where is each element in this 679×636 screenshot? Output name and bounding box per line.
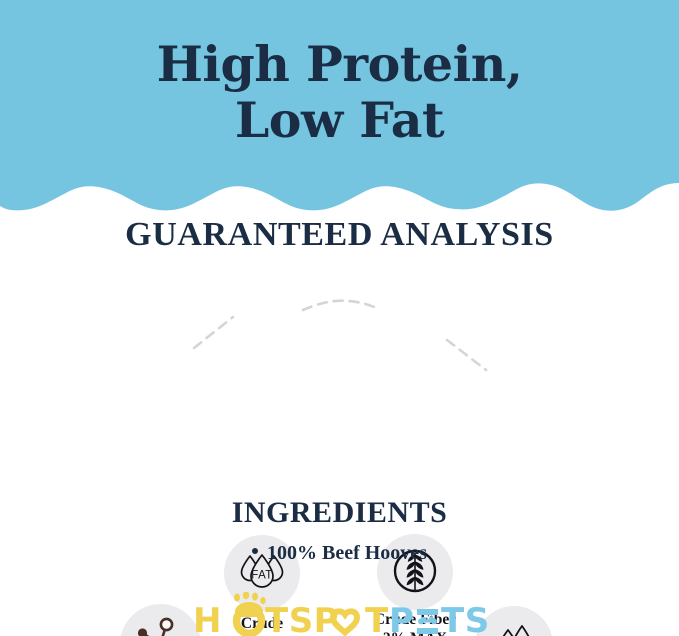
logo-o-ring-icon xyxy=(236,609,261,634)
svg-text:TS: TS xyxy=(441,601,487,636)
svg-text:P: P xyxy=(389,601,414,636)
svg-text:T: T xyxy=(365,601,389,636)
svg-text:FAT: FAT xyxy=(251,570,272,582)
ingredient-item: 100% Beef Hooves xyxy=(0,540,679,566)
guaranteed-analysis-diagram: Crude Protein 88% MIN FAT Crude Fat 0% M… xyxy=(0,262,679,477)
logo-e-bone-icon xyxy=(417,609,438,634)
svg-text:H: H xyxy=(193,601,222,636)
page-title: High Protein, Low Fat xyxy=(0,36,679,148)
hero-banner: High Protein, Low Fat xyxy=(0,0,679,212)
ingredient-item-text: 100% Beef Hooves xyxy=(267,542,427,564)
product-infographic: High Protein, Low Fat GUARANTEED ANALYSI… xyxy=(0,0,679,636)
connector-fiber-moisture xyxy=(447,340,486,370)
brand-logo[interactable]: H TSP T P TS xyxy=(0,592,679,636)
connector-fat-fiber xyxy=(303,301,377,310)
ingredients-heading: INGREDIENTS xyxy=(0,496,679,530)
guaranteed-analysis-heading: GUARANTEED ANALYSIS xyxy=(0,216,679,254)
svg-text:TSP: TSP xyxy=(265,601,339,636)
connector-protein-fat xyxy=(194,317,233,348)
hotspotpets-logo-icon[interactable]: H TSP T P TS xyxy=(193,592,487,636)
hero-title-line-2: Low Fat xyxy=(0,92,679,148)
connector-lines xyxy=(0,262,679,477)
ingredients-list: 100% Beef Hooves xyxy=(0,540,679,566)
hero-title-line-1: High Protein, xyxy=(157,35,523,93)
bullet-icon xyxy=(252,548,258,554)
